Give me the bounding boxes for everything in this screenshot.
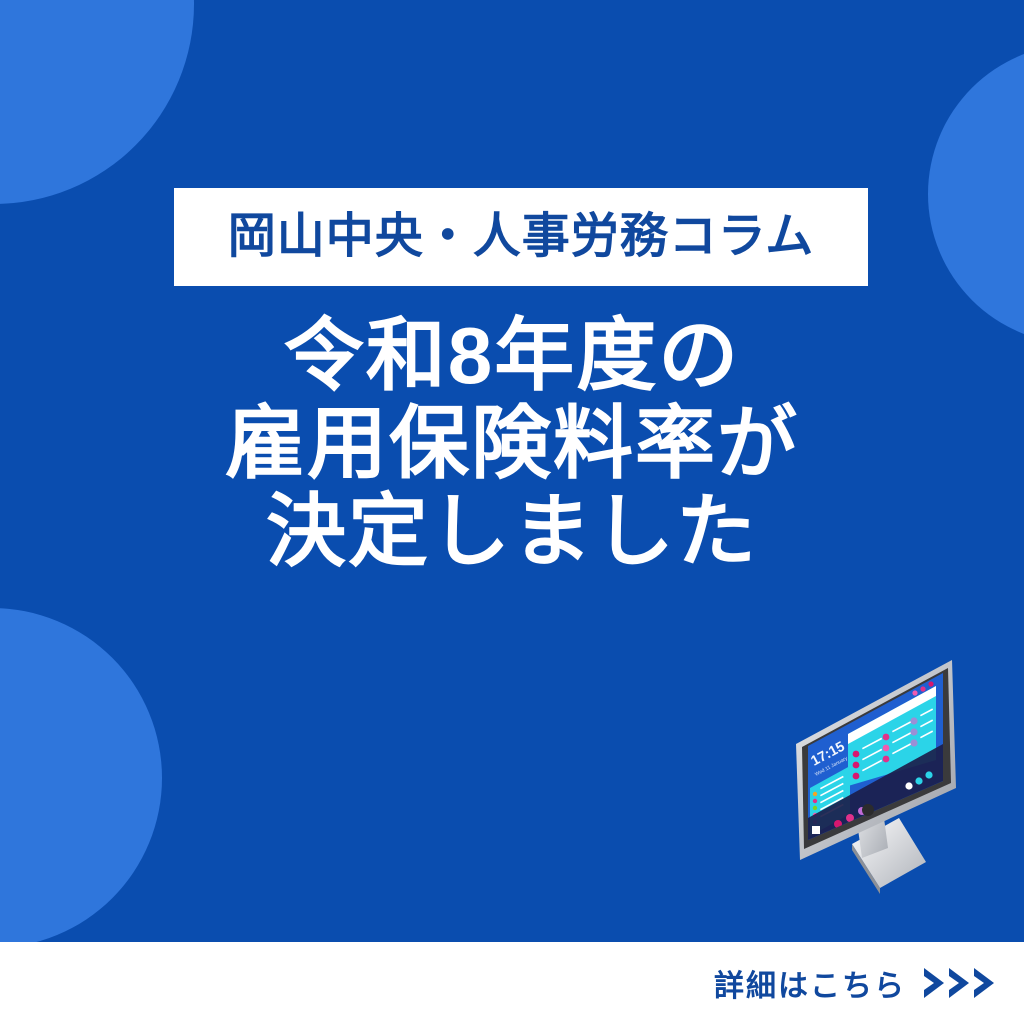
chevron-right-icon — [947, 966, 971, 1000]
cta-label: 詳細はこちら — [714, 961, 906, 1005]
banner-label: 岡山中央・人事労務コラム — [228, 213, 815, 261]
headline-line-3: 決定しました — [0, 488, 1024, 576]
decorative-circle-bottom-left — [0, 608, 162, 948]
chevron-right-icon — [972, 966, 996, 1000]
footer-bar: 詳細はこちら — [0, 942, 1024, 1024]
poster-canvas: 岡山中央・人事労務コラム 令和8年度の 雇用保険料率が 決定しました — [0, 0, 1024, 1024]
column-banner: 岡山中央・人事労務コラム — [174, 188, 868, 286]
monitor-camera-dot — [862, 804, 874, 816]
cta-arrows — [922, 966, 996, 1000]
decorative-circle-top-left — [0, 0, 194, 204]
chevron-right-icon — [922, 966, 946, 1000]
decorative-circle-top-right — [928, 44, 1024, 344]
headline-block: 令和8年度の 雇用保険料率が 決定しました — [0, 312, 1024, 576]
headline-line-1: 令和8年度の — [0, 312, 1024, 400]
desktop-monitor-illustration: 17:15 Wed 11 January — [776, 648, 1024, 912]
cta-link[interactable]: 詳細はこちら — [714, 961, 996, 1005]
headline-line-2: 雇用保険料率が — [0, 400, 1024, 488]
